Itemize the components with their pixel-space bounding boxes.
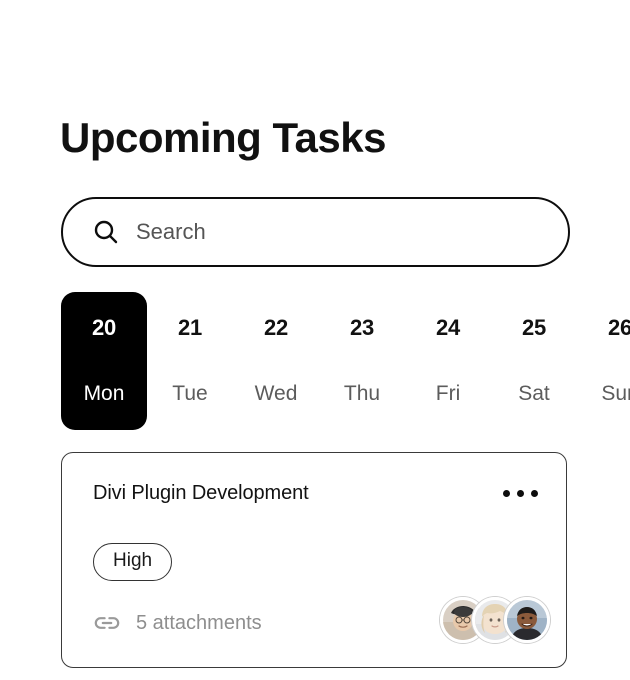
more-dot (503, 490, 510, 497)
date-weekday: Tue (172, 383, 207, 404)
avatar[interactable] (504, 597, 550, 643)
date-weekday: Mon (84, 383, 125, 404)
assignee-avatar-group[interactable] (440, 597, 550, 643)
date-number: 21 (178, 317, 202, 339)
attachments-row[interactable]: 5 attachments (92, 608, 262, 638)
date-number: 24 (436, 317, 460, 339)
page-title: Upcoming Tasks (60, 114, 386, 162)
date-cell-sat-25[interactable]: 25 Sat (491, 292, 577, 430)
more-dot (531, 490, 538, 497)
more-horizontal-icon[interactable] (501, 484, 540, 503)
date-number: 26 (608, 317, 630, 339)
date-weekday: Sun (601, 383, 630, 404)
date-number: 23 (350, 317, 374, 339)
date-cell-fri-24[interactable]: 24 Fri (405, 292, 491, 430)
date-cell-wed-22[interactable]: 22 Wed (233, 292, 319, 430)
date-number: 25 (522, 317, 546, 339)
task-card-header: Divi Plugin Development (93, 481, 540, 505)
priority-badge[interactable]: High (93, 543, 172, 581)
more-dot (517, 490, 524, 497)
date-cell-tue-21[interactable]: 21 Tue (147, 292, 233, 430)
link-icon (92, 608, 122, 638)
date-weekday: Wed (255, 383, 298, 404)
date-weekday: Fri (436, 383, 461, 404)
date-strip: 20 Mon 21 Tue 22 Wed 23 Thu 24 Fri 25 Sa… (61, 292, 570, 430)
date-cell-thu-23[interactable]: 23 Thu (319, 292, 405, 430)
search-icon (93, 219, 119, 245)
date-number: 20 (92, 317, 116, 339)
date-cell-mon-20[interactable]: 20 Mon (61, 292, 147, 430)
upcoming-tasks-screen: Upcoming Tasks 20 Mon 21 Tue 22 Wed 23 T… (0, 0, 630, 680)
date-weekday: Thu (344, 383, 380, 404)
date-number: 22 (264, 317, 288, 339)
attachments-label: 5 attachments (136, 613, 262, 633)
task-title: Divi Plugin Development (93, 481, 309, 505)
search-bar[interactable] (61, 197, 570, 267)
date-cell-sun-26[interactable]: 26 Sun (577, 292, 630, 430)
date-weekday: Sat (518, 383, 550, 404)
search-input[interactable] (136, 219, 516, 245)
